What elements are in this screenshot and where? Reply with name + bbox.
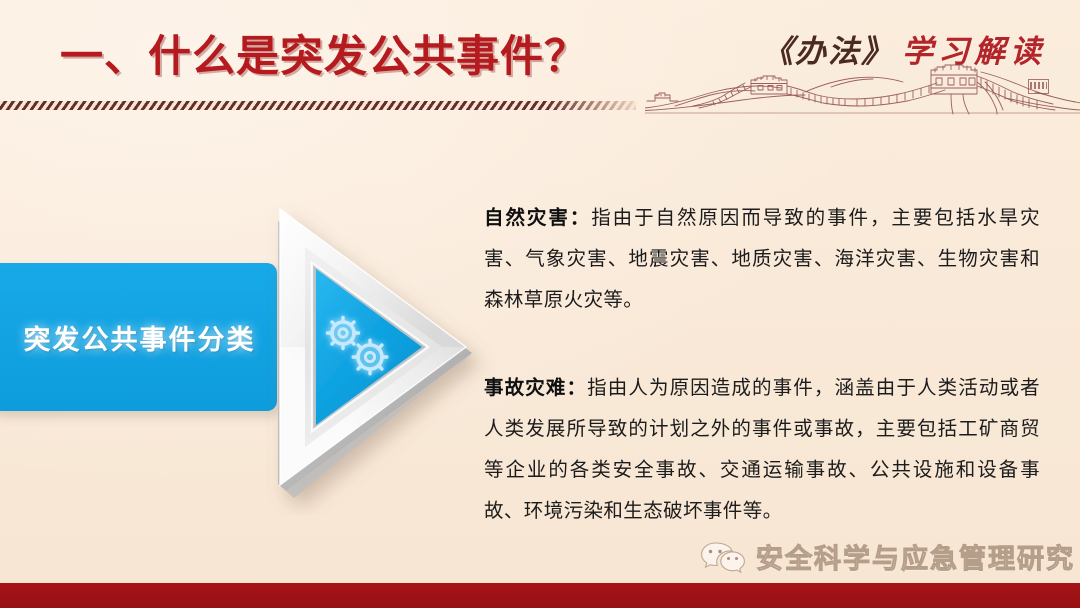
watermark-label: 安全科学与应急管理研究 [756, 537, 1075, 576]
paragraph-lead-label: 事故灾难： [484, 377, 587, 399]
seal-stamp-icon [1028, 79, 1049, 94]
great-wall-icon [645, 52, 1080, 116]
slide-header: 一、什么是突发公共事件？ 《办法》学习解读 [0, 0, 1080, 118]
category-banner-label: 突发公共事件分类 [10, 318, 256, 357]
content-body: 自然灾害：指由于自然原因而导致的事件，主要包括水旱灾害、气象灾害、地震灾害、地质… [484, 178, 1040, 551]
footer-watermark: 安全科学与应急管理研究 [700, 537, 1075, 576]
category-banner[interactable]: 突发公共事件分类 [0, 263, 277, 411]
paragraph-lead-label: 自然灾害： [484, 207, 591, 229]
play-triangle-graphic [250, 185, 510, 515]
paragraph-accident-disaster: 事故灾难：指由人为原因造成的事件，涵盖由于人类活动或者人类发展所导致的计划之外的… [484, 368, 1040, 532]
hatched-divider [0, 101, 636, 110]
footer-bar [0, 583, 1080, 608]
slide-root: 一、什么是突发公共事件？ 《办法》学习解读 [0, 0, 1080, 608]
wechat-icon [700, 540, 746, 574]
page-title: 一、什么是突发公共事件？ [60, 22, 588, 84]
paragraph-natural-disaster: 自然灾害：指由于自然原因而导致的事件，主要包括水旱灾害、气象灾害、地震灾害、地质… [484, 198, 1040, 321]
